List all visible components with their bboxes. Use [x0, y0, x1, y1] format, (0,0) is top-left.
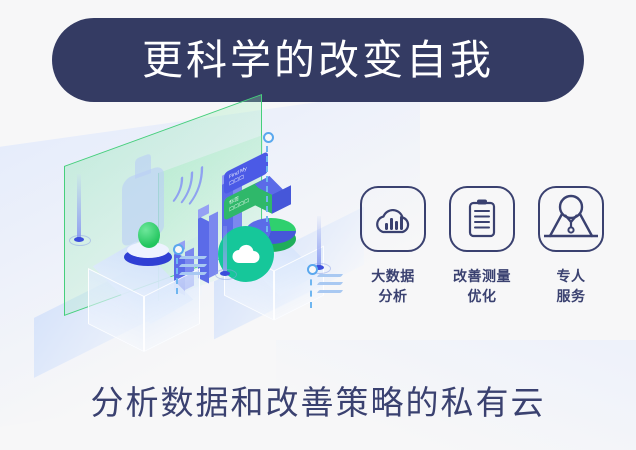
green-sphere — [138, 222, 160, 248]
feature-label-line2: 优化 — [468, 288, 497, 304]
feature-label-measurement: 改善测量 优化 — [453, 266, 511, 306]
accent-strokes-right — [318, 274, 342, 298]
accent-stroke — [317, 282, 344, 285]
accent-strokes-left — [180, 256, 206, 280]
accent-stroke — [179, 256, 208, 259]
bar-face-top — [198, 204, 209, 218]
feature-label-big-data: 大数据 分析 — [371, 266, 415, 306]
pin-cap — [220, 271, 230, 276]
feature-item-support[interactable]: 专人 服务 — [534, 186, 608, 306]
cloud-analytics-icon — [360, 186, 426, 252]
feature-label-line1: 改善测量 — [453, 268, 511, 284]
feature-label-line2: 服务 — [557, 288, 586, 304]
feature-label-line2: 分析 — [379, 288, 408, 304]
sphere-icon — [124, 222, 172, 270]
illustration-stage: Find My 口口口 标签 口口口口 — [28, 118, 368, 368]
feature-item-big-data[interactable]: 大数据 分析 — [356, 186, 430, 306]
accent-stroke — [179, 272, 208, 275]
tagline: 分析数据和改善策略的私有云 — [0, 386, 636, 419]
header-banner: 更科学的改变自我 — [52, 18, 584, 102]
bar-face-side — [209, 212, 218, 278]
support-agent-icon — [538, 186, 604, 252]
accent-stroke — [179, 264, 208, 267]
accent-stroke — [317, 274, 344, 277]
feature-label-line1: 专人 — [557, 268, 586, 284]
poster-root: 更科学的改变自我 — [0, 0, 636, 450]
dashed-connector-1 — [266, 136, 268, 232]
feature-list: 大数据 分析 改善测量 优化 — [356, 186, 608, 306]
feature-item-measurement[interactable]: 改善测量 优化 — [445, 186, 519, 306]
pin-cap — [74, 237, 84, 242]
pin-rod — [77, 174, 81, 240]
header-title: 更科学的改变自我 — [142, 40, 494, 81]
cube-icon — [252, 182, 292, 222]
feature-label-line1: 大数据 — [371, 268, 415, 284]
dashed-connector-dot-2 — [173, 244, 184, 255]
pin-rod — [317, 216, 321, 268]
clipboard-icon — [449, 186, 515, 252]
accent-stroke — [317, 290, 344, 293]
dashed-connector-dot-3 — [307, 264, 318, 275]
dashed-connector-dot-1 — [263, 132, 274, 143]
feature-label-support: 专人 服务 — [557, 266, 586, 306]
pin-rod — [223, 226, 227, 274]
